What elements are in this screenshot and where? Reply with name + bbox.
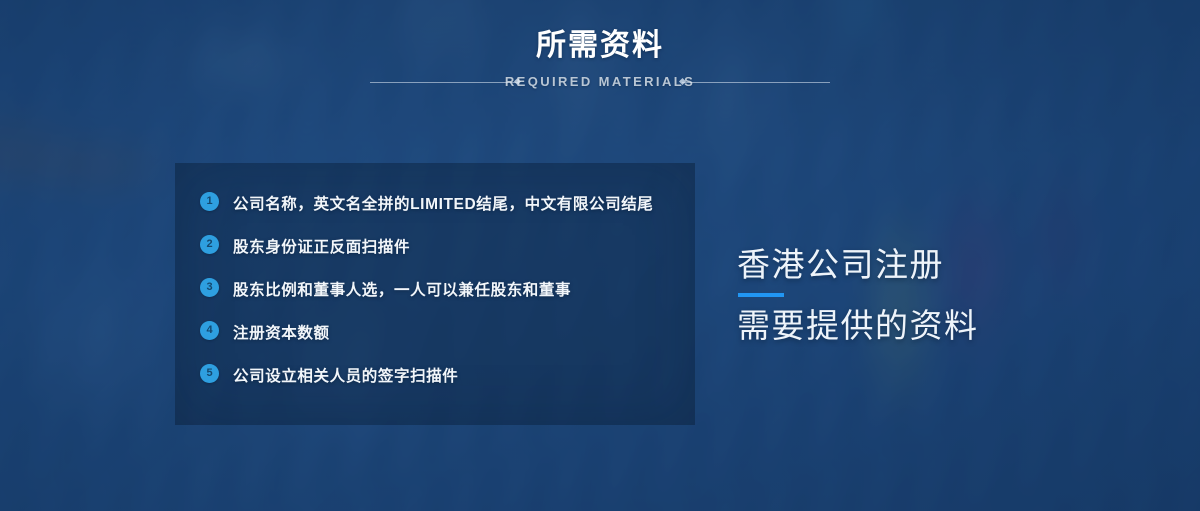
list-item: 2 股东身份证正反面扫描件 <box>200 233 677 263</box>
promo-banner: 所需资料 REQUIRED MATERIALS 1 公司名称，英文名全拼的LIM… <box>0 0 1200 511</box>
materials-panel: 1 公司名称，英文名全拼的LIMITED结尾，中文有限公司结尾 2 股东身份证正… <box>175 163 695 425</box>
item-number-badge: 3 <box>200 278 219 297</box>
headline-line-2: 需要提供的资料 <box>737 304 979 348</box>
header-title: 所需资料 <box>0 29 1200 62</box>
item-number-badge: 4 <box>200 321 219 340</box>
headline-accent-rule <box>738 293 784 297</box>
item-text: 注册资本数额 <box>233 319 330 349</box>
decorative-line-right <box>682 82 830 83</box>
list-item: 5 公司设立相关人员的签字扫描件 <box>200 362 677 392</box>
item-text: 公司设立相关人员的签字扫描件 <box>233 362 458 392</box>
item-text: 公司名称，英文名全拼的LIMITED结尾，中文有限公司结尾 <box>233 190 653 220</box>
header-subtitle-row: REQUIRED MATERIALS <box>0 73 1200 91</box>
list-item: 3 股东比例和董事人选，一人可以兼任股东和董事 <box>200 276 677 306</box>
item-number-badge: 2 <box>200 235 219 254</box>
item-number-badge: 5 <box>200 364 219 383</box>
item-text: 股东比例和董事人选，一人可以兼任股东和董事 <box>233 276 571 306</box>
headline-block: 香港公司注册 需要提供的资料 <box>737 243 979 348</box>
list-item: 4 注册资本数额 <box>200 319 677 349</box>
item-text: 股东身份证正反面扫描件 <box>233 233 410 263</box>
headline-line-1: 香港公司注册 <box>737 243 979 287</box>
list-item: 1 公司名称，英文名全拼的LIMITED结尾，中文有限公司结尾 <box>200 190 677 220</box>
item-number-badge: 1 <box>200 192 219 211</box>
materials-list: 1 公司名称，英文名全拼的LIMITED结尾，中文有限公司结尾 2 股东身份证正… <box>200 190 677 392</box>
header-subtitle: REQUIRED MATERIALS <box>505 74 695 89</box>
decorative-line-left <box>370 82 518 83</box>
banner-header: 所需资料 REQUIRED MATERIALS <box>0 0 1200 91</box>
